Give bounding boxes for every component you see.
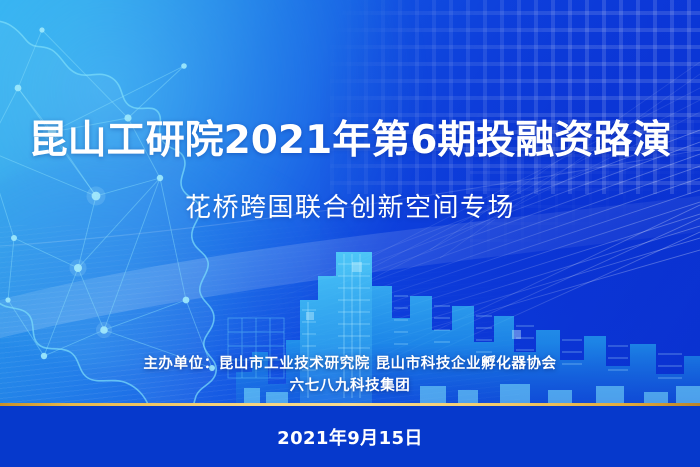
event-date: 2021年9月15日 <box>277 424 423 450</box>
organizer-block: 主办单位：昆山市工业技术研究院 昆山市科技企业孵化器协会 六七八九科技集团 <box>0 353 700 397</box>
organizer-line-1: 主办单位：昆山市工业技术研究院 昆山市科技企业孵化器协会 <box>0 353 700 375</box>
date-band: 2021年9月15日 <box>0 406 700 467</box>
page-title: 昆山工研院2021年第6期投融资路演 <box>0 117 700 165</box>
event-poster: 昆山工研院2021年第6期投融资路演 花桥跨国联合创新空间专场 主办单位：昆山市… <box>0 0 700 467</box>
page-subtitle: 花桥跨国联合创新空间专场 <box>0 192 700 225</box>
organizer-line-2: 六七八九科技集团 <box>0 375 700 397</box>
poster-content: 昆山工研院2021年第6期投融资路演 花桥跨国联合创新空间专场 主办单位：昆山市… <box>0 0 700 467</box>
